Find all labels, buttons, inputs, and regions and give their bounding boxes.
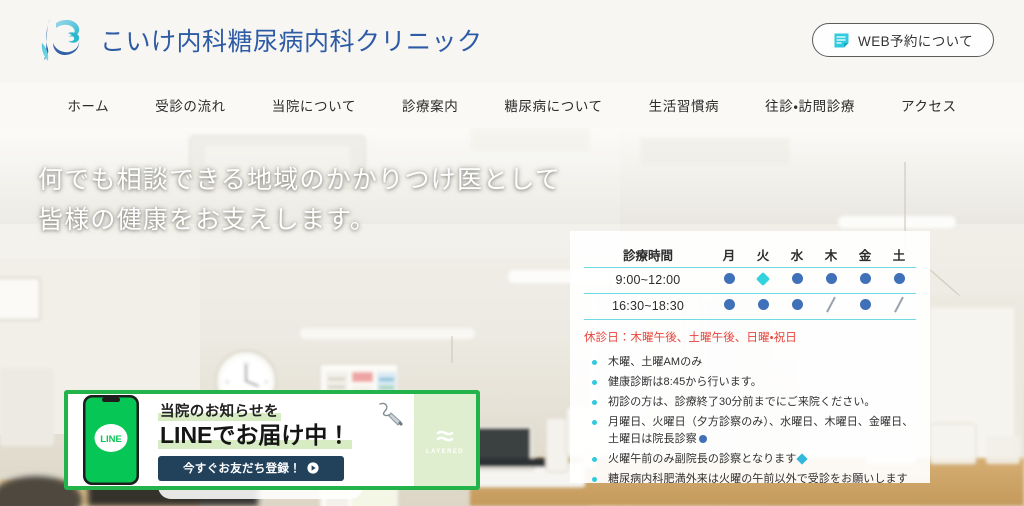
line-cta-label: 今すぐお友だち登録！ (183, 460, 301, 476)
clinic-note-text: 月曜日、火曜日（夕方診察のみ）、水曜日、木曜日、金曜日、土曜日は院長診察 (608, 416, 913, 445)
clinic-hours-panel: 診療時間 月 火 水 木 金 土 9:00~12:0016:30~18:30 休… (570, 231, 930, 483)
hero-headline: 何でも相談できる地域のかかりつけ医として 皆様の健康をお支えします。 (38, 160, 561, 240)
brand-lockup[interactable]: こいけ内科糖尿病内科クリニック (34, 9, 483, 71)
site-header: こいけ内科糖尿病内科クリニック WEB予約について (0, 0, 1024, 82)
hours-mark-cell (746, 267, 780, 293)
clinic-note-item: 木曜、土曜AMのみ (584, 354, 916, 371)
web-reservation-label: WEB予約について (858, 30, 973, 50)
nav-item-6[interactable]: 生活習慣病 (649, 95, 720, 115)
layered-label: LAYERED (426, 449, 464, 455)
nav-item-5[interactable]: 糖尿病について (504, 95, 602, 115)
clinic-note-text: 糖尿病内科肥満外来は火曜の午前以外で受診をお願いします (608, 473, 908, 484)
hours-col-mon: 月 (712, 243, 746, 267)
open-circle-mark (792, 299, 803, 310)
hours-mark-cell (882, 267, 916, 293)
svg-text:9: 9 (226, 380, 229, 386)
nav-item-8[interactable]: アクセス (901, 95, 957, 115)
hours-mark-cell (848, 267, 882, 293)
hours-col-thu: 木 (814, 243, 848, 267)
open-circle-mark (894, 273, 905, 284)
nav-item-1[interactable]: ホーム (67, 95, 109, 115)
hours-mark-cell (780, 293, 814, 319)
layered-logo-icon (435, 426, 455, 446)
line-phone-mockup-icon: LINE (82, 394, 140, 486)
svg-text:12: 12 (243, 362, 249, 368)
closed-slash-mark (824, 297, 838, 311)
hours-mark-cell (712, 267, 746, 293)
svg-text:LINE: LINE (100, 434, 122, 445)
open-circle-mark (724, 273, 735, 284)
clinic-name: こいけ内科糖尿病内科クリニック (100, 22, 483, 58)
clinic-hours-table: 診療時間 月 火 水 木 金 土 9:00~12:0016:30~18:30 (584, 243, 916, 320)
hours-time-cell: 9:00~12:00 (584, 267, 712, 293)
clinic-note-text: 初診の方は、診療終了30分前までにご来院ください。 (608, 396, 876, 408)
clinic-note-text: 健康診断は8:45から行います。 (608, 376, 762, 388)
open-circle-mark (758, 299, 769, 310)
pen-underline-icon (376, 400, 406, 430)
nav-item-3[interactable]: 当院について (272, 95, 356, 115)
open-circle-mark (792, 273, 803, 284)
hours-mark-cell (882, 293, 916, 319)
line-banner-headline: LINEでお届け中！ (158, 422, 352, 449)
hours-mark-cell (814, 267, 848, 293)
open-circle-mark (860, 273, 871, 284)
inline-circle-mark (699, 435, 707, 443)
closed-slash-mark (892, 297, 906, 311)
clinic-note-text: 木曜、土曜AMのみ (608, 356, 702, 368)
form-document-icon (833, 32, 850, 49)
inline-diamond-mark (797, 453, 808, 464)
line-banner-body: 当院のお知らせを LINEでお届け中！ 今すぐお友だち登録！ (154, 394, 414, 486)
clinic-note-item: 糖尿病内科肥満外来は火曜の午前以外で受診をお願いします (584, 471, 916, 484)
line-banner-partner-area: LAYERED (414, 394, 476, 486)
line-banner-kicker: 当院のお知らせを (158, 400, 281, 421)
nav-item-4[interactable]: 診療案内 (402, 95, 458, 115)
hours-row: 9:00~12:00 (584, 267, 916, 293)
hero-headline-line-1: 何でも相談できる地域のかかりつけ医として (38, 160, 561, 200)
deputy-diamond-mark (756, 272, 770, 286)
open-circle-mark (724, 299, 735, 310)
hero-headline-line-2: 皆様の健康をお支えします。 (38, 200, 561, 240)
hours-mark-cell (712, 293, 746, 319)
web-reservation-button[interactable]: WEB予約について (812, 23, 994, 57)
hours-time-cell: 16:30~18:30 (584, 293, 712, 319)
closed-days-note: 休診日：木曜午後、土曜午後、日曜・祝日 (584, 329, 916, 345)
hours-table-head: 診療時間 月 火 水 木 金 土 (584, 243, 916, 267)
hours-header-row: 診療時間 月 火 水 木 金 土 (584, 243, 916, 267)
main-navigation: ホーム受診の流れ当院について診療案内糖尿病について生活習慣病往診・訪問診療アクセ… (0, 82, 1024, 128)
clinic-notes-list: 木曜、土曜AMのみ健康診断は8:45から行います。初診の方は、診療終了30分前ま… (584, 354, 916, 484)
line-friend-register-button[interactable]: 今すぐお友だち登録！ (158, 456, 344, 481)
open-circle-mark (860, 299, 871, 310)
clinic-k-logo-icon (34, 13, 88, 67)
line-phone-area: LINE (68, 394, 154, 486)
hours-col-time: 診療時間 (584, 243, 712, 267)
hours-col-fri: 金 (848, 243, 882, 267)
clinic-note-item: 月曜日、火曜日（夕方診察のみ）、水曜日、木曜日、金曜日、土曜日は院長診察 (584, 414, 916, 448)
line-promo-banner[interactable]: LINE 当院のお知らせを LINEでお届け中！ 今すぐお友だち登録！ (64, 390, 480, 490)
open-circle-mark (826, 273, 837, 284)
hours-mark-cell (746, 293, 780, 319)
hours-row: 16:30~18:30 (584, 293, 916, 319)
hours-col-wed: 水 (780, 243, 814, 267)
hours-col-tue: 火 (746, 243, 780, 267)
clinic-note-item: 火曜午前のみ副院長の診察となります (584, 451, 916, 468)
clinic-note-text: 火曜午前のみ副院長の診察となります (608, 453, 796, 465)
page-root: 123 69 (0, 0, 1024, 506)
hours-mark-cell (848, 293, 882, 319)
nav-item-7[interactable]: 往診・訪問診療 (765, 95, 855, 115)
hours-mark-cell (780, 267, 814, 293)
clinic-note-item: 初診の方は、診療終了30分前までにご来院ください。 (584, 394, 916, 411)
play-arrow-icon (307, 462, 319, 474)
hours-table-body: 9:00~12:0016:30~18:30 (584, 267, 916, 319)
hours-col-sat: 土 (882, 243, 916, 267)
nav-item-2[interactable]: 受診の流れ (155, 95, 226, 115)
svg-text:3: 3 (265, 380, 268, 386)
hours-mark-cell (814, 293, 848, 319)
clinic-note-item: 健康診断は8:45から行います。 (584, 374, 916, 391)
